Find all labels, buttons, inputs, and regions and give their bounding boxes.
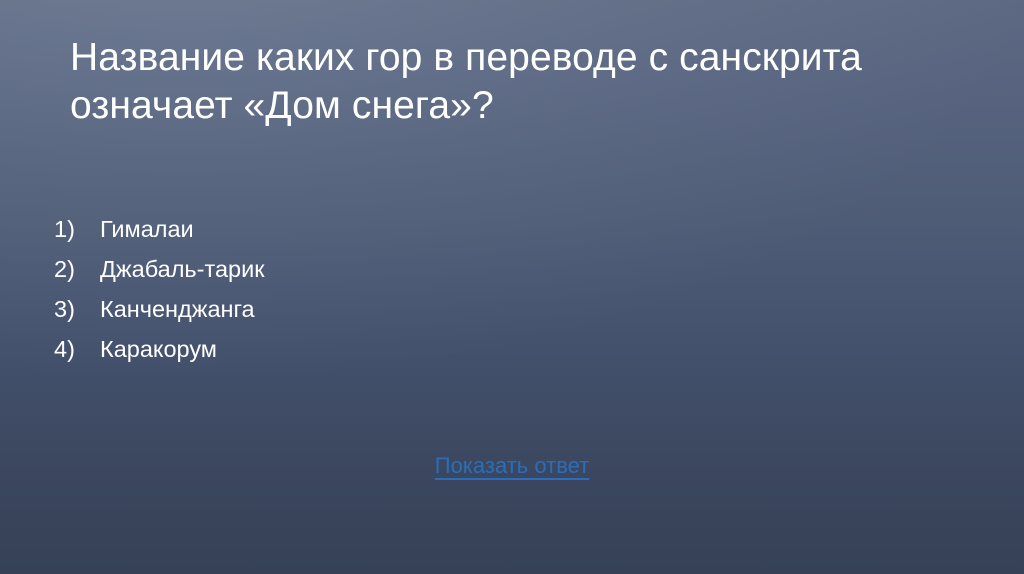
choice-label: Канченджанга: [100, 289, 255, 329]
choice-marker: 1): [54, 209, 100, 249]
choice-marker: 2): [54, 249, 100, 289]
show-answer-link[interactable]: Показать ответ: [435, 452, 589, 480]
question-title: Название каких гор в переводе с санскрит…: [70, 34, 960, 130]
choice-marker: 3): [54, 289, 100, 329]
list-item[interactable]: 1) Гималаи: [54, 209, 754, 249]
choice-label: Гималаи: [100, 209, 194, 249]
choice-marker: 4): [54, 329, 100, 369]
list-item[interactable]: 2) Джабаль-тарик: [54, 249, 754, 289]
list-item[interactable]: 3) Канченджанга: [54, 289, 754, 329]
choice-label: Каракорум: [100, 329, 217, 369]
answer-link-container: Показать ответ: [0, 452, 1024, 480]
slide-content: Название каких гор в переводе с санскрит…: [0, 0, 1024, 574]
answer-choices-list: 1) Гималаи 2) Джабаль-тарик 3) Канченджа…: [54, 209, 754, 369]
choice-label: Джабаль-тарик: [100, 249, 265, 289]
list-item[interactable]: 4) Каракорум: [54, 329, 754, 369]
quiz-slide: Название каких гор в переводе с санскрит…: [0, 0, 1024, 574]
